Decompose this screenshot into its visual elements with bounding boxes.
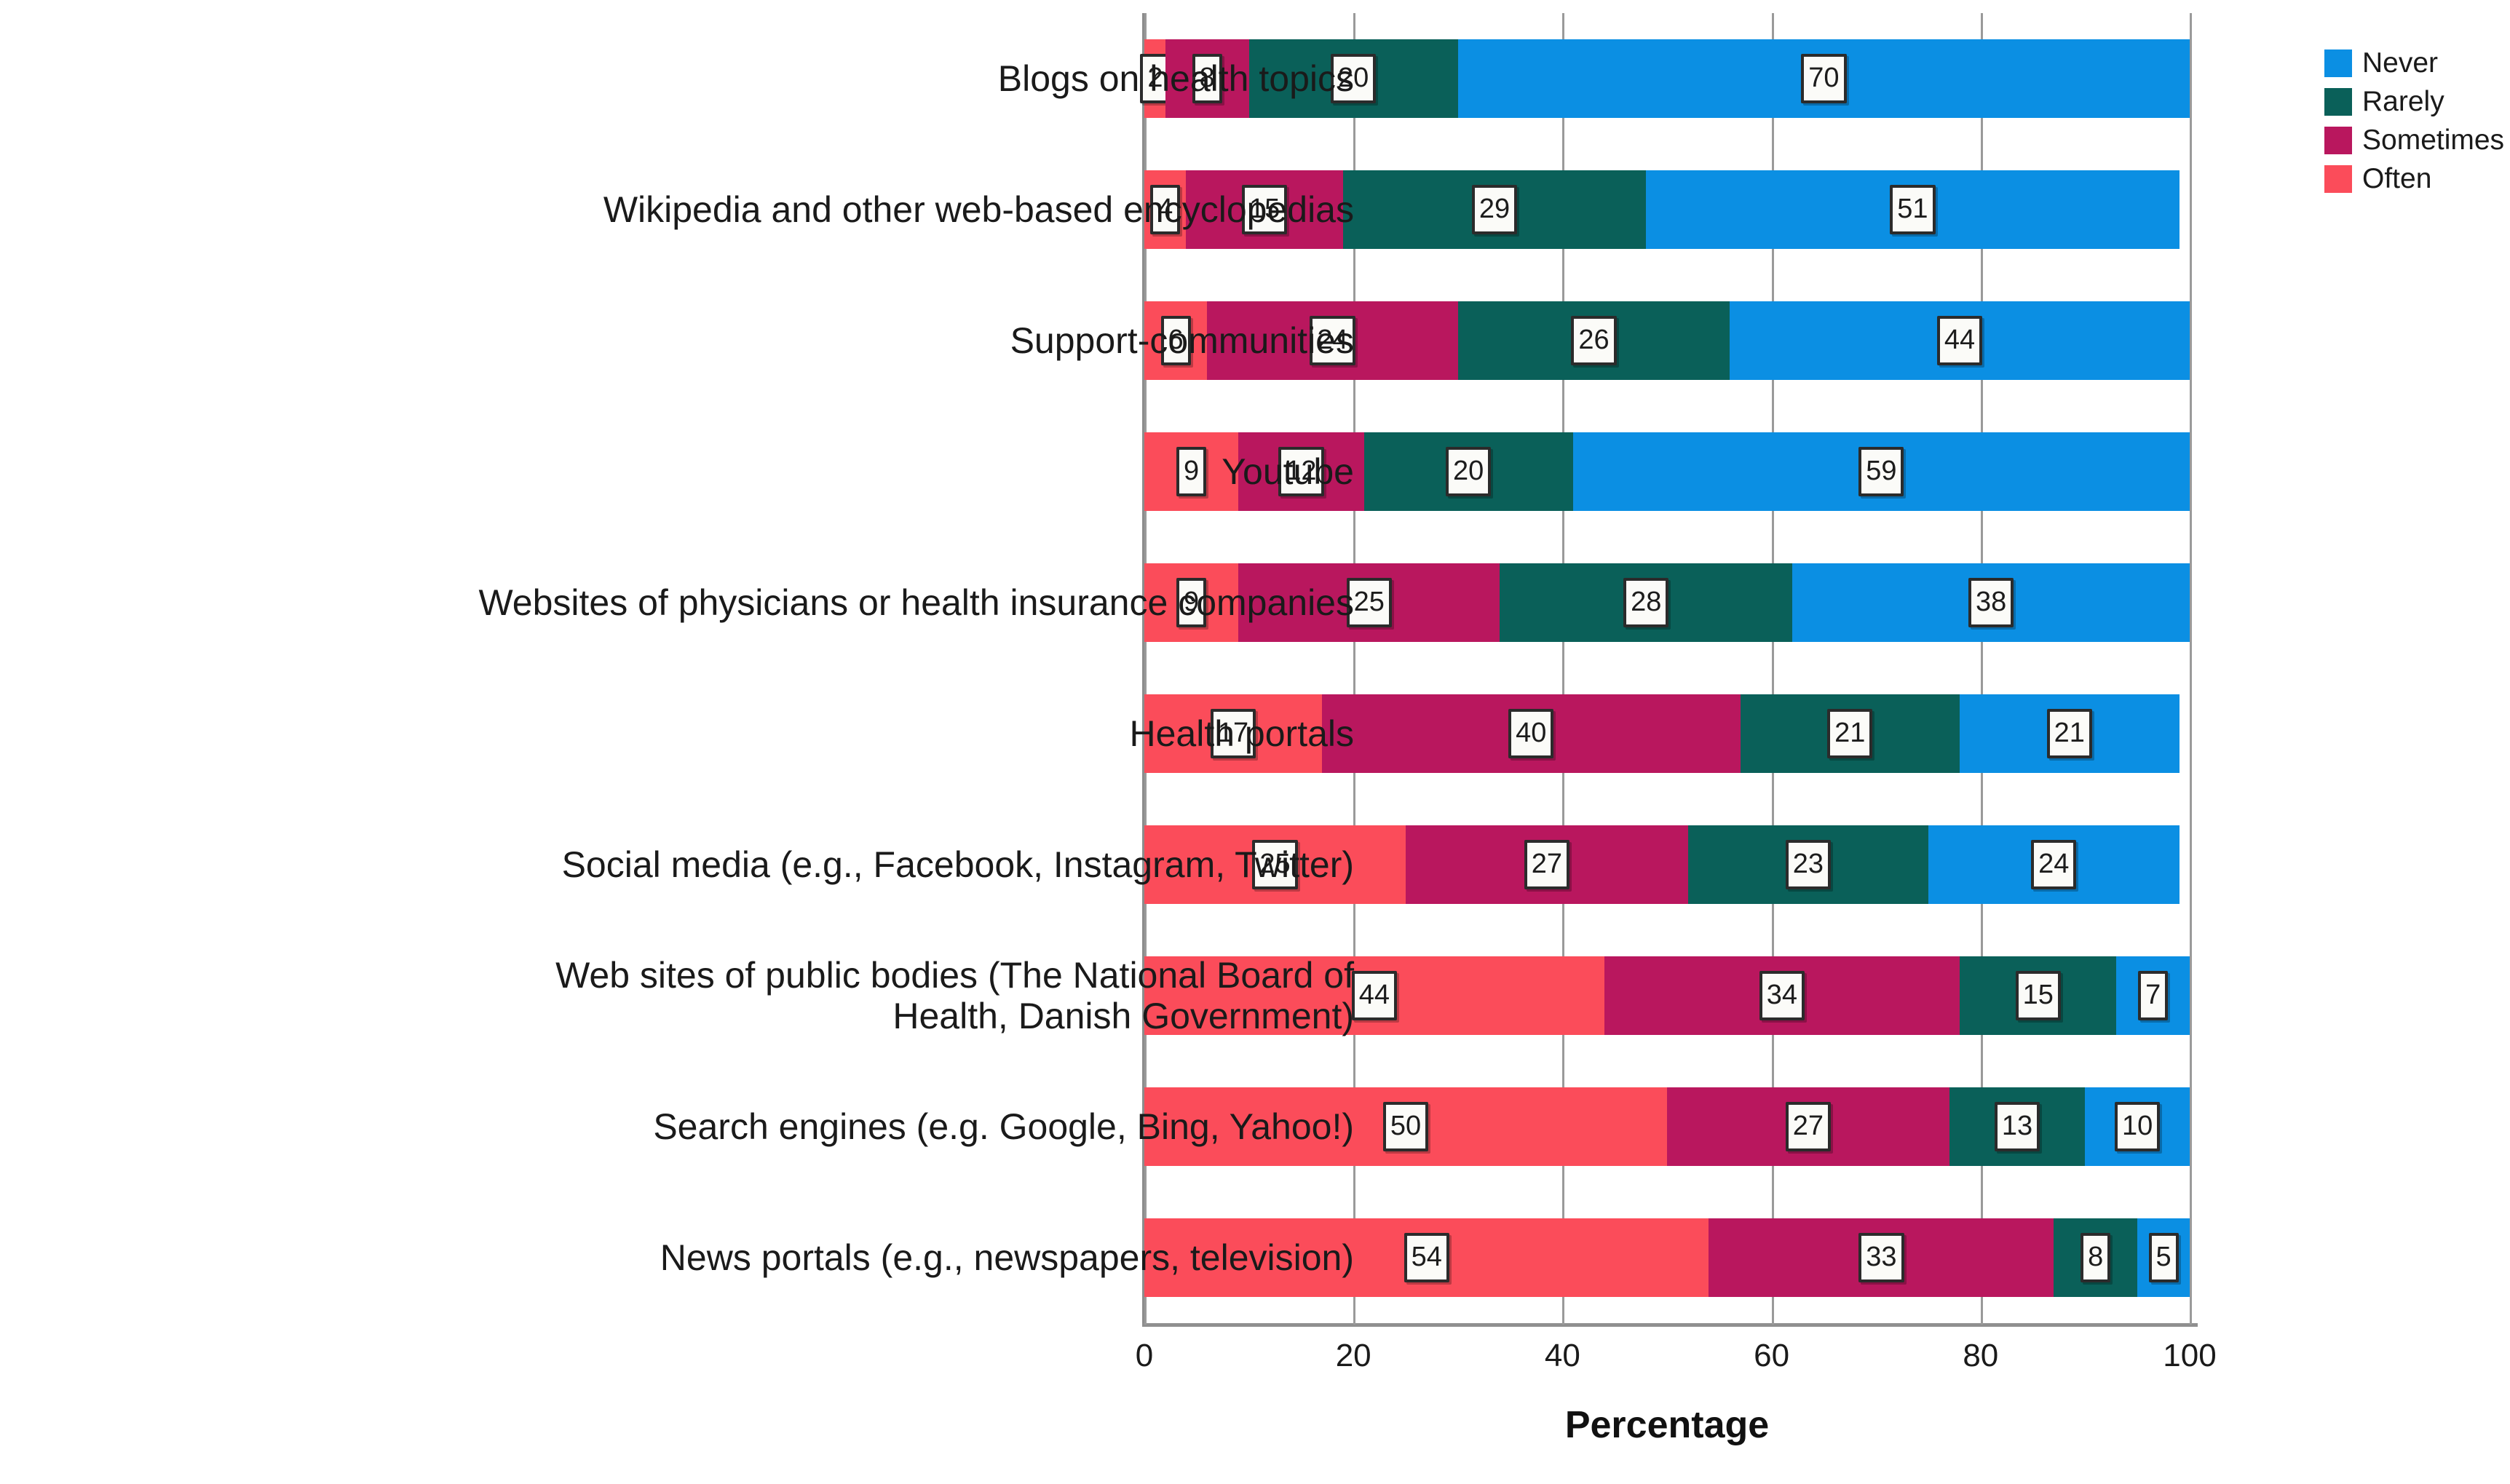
- bar-value-label: 26: [1571, 316, 1616, 365]
- bar-value-label: 27: [1786, 1102, 1831, 1151]
- gridline-100: [2190, 13, 2192, 1325]
- bar-value-label: 34: [1759, 971, 1805, 1020]
- bar-value-label: 24: [2031, 840, 2076, 889]
- x-tick-label: 0: [1101, 1338, 1188, 1374]
- bar-segment-rarely: 15: [1960, 956, 2116, 1035]
- bar-segment-never: 5: [2137, 1218, 2190, 1297]
- category-label: Social media (e.g., Facebook, Instagram,…: [562, 844, 1354, 885]
- bar-value-label: 44: [1937, 316, 1982, 365]
- bar-value-label: 10: [2115, 1102, 2160, 1151]
- category-label: Blogs on health topics: [998, 58, 1354, 99]
- category-label: Websites of physicians or health insuran…: [479, 582, 1355, 623]
- bar-segment-never: 70: [1458, 39, 2190, 118]
- bar-value-label: 51: [1890, 185, 1935, 234]
- x-axis-title: Percentage: [1144, 1403, 2190, 1447]
- category-label: Web sites of public bodies (The National…: [555, 955, 1354, 1036]
- bar-segment-sometimes: 27: [1667, 1087, 1949, 1166]
- x-tick-label: 80: [1937, 1338, 2024, 1374]
- bar-segment-never: 44: [1730, 301, 2190, 380]
- bar-value-label: 13: [1995, 1102, 2040, 1151]
- legend-label: Sometimes: [2362, 126, 2504, 154]
- bar-value-label: 8: [2081, 1233, 2110, 1282]
- bar-segment-sometimes: 33: [1709, 1218, 2054, 1297]
- legend-item: Often: [2324, 159, 2506, 198]
- bar-value-label: 28: [1623, 578, 1668, 627]
- category-label: Wikipedia and other web-based encycloped…: [603, 189, 1354, 230]
- bar-segment-never: 51: [1646, 170, 2179, 249]
- bar-segment-rarely: 23: [1688, 825, 1928, 904]
- legend-swatch-icon: [2324, 49, 2352, 77]
- bar-value-label: 70: [1801, 54, 1846, 103]
- bar-segment-rarely: 13: [1949, 1087, 2086, 1166]
- category-label: News portals (e.g., newspapers, televisi…: [660, 1237, 1354, 1278]
- bar-value-label: 23: [1786, 840, 1831, 889]
- category-label: Youtube: [1222, 451, 1354, 492]
- bar-value-label: 38: [1968, 578, 2014, 627]
- x-tick-label: 60: [1728, 1338, 1816, 1374]
- chart-figure: 2820704152951624264491220599252838174021…: [0, 0, 2510, 1484]
- chart-legend: NeverRarelySometimesOften: [2324, 44, 2506, 198]
- bar-value-label: 33: [1858, 1233, 1904, 1282]
- legend-label: Often: [2362, 164, 2431, 193]
- bar-value-label: 29: [1472, 185, 1517, 234]
- bar-segment-never: 24: [1928, 825, 2180, 904]
- bar-value-label: 54: [1404, 1233, 1449, 1282]
- bar-value-label: 40: [1508, 709, 1553, 758]
- bar-value-label: 5: [2149, 1233, 2179, 1282]
- bar-segment-sometimes: 27: [1406, 825, 1688, 904]
- bar-value-label: 44: [1352, 971, 1397, 1020]
- bar-segment-rarely: 28: [1500, 563, 1792, 642]
- bar-value-label: 9: [1176, 447, 1206, 496]
- category-label: Search engines (e.g. Google, Bing, Yahoo…: [653, 1106, 1354, 1147]
- bar-segment-sometimes: 34: [1604, 956, 1960, 1035]
- bar-value-label: 21: [1827, 709, 1872, 758]
- bar-segment-never: 59: [1573, 432, 2190, 511]
- bar-segment-rarely: 29: [1343, 170, 1646, 249]
- legend-swatch-icon: [2324, 88, 2352, 116]
- legend-swatch-icon: [2324, 165, 2352, 193]
- bar-value-label: 20: [1446, 447, 1491, 496]
- bar-value-label: 50: [1383, 1102, 1428, 1151]
- bar-segment-rarely: 8: [2054, 1218, 2137, 1297]
- bar-segment-rarely: 20: [1364, 432, 1573, 511]
- bar-value-label: 7: [2138, 971, 2168, 1020]
- bar-value-label: 21: [2047, 709, 2092, 758]
- legend-swatch-icon: [2324, 127, 2352, 154]
- bar-value-label: 27: [1524, 840, 1569, 889]
- legend-label: Never: [2362, 49, 2438, 77]
- bar-segment-never: 21: [1960, 694, 2180, 773]
- bar-segment-never: 38: [1792, 563, 2190, 642]
- bar-segment-never: 10: [2085, 1087, 2190, 1166]
- category-label: Health portals: [1130, 713, 1355, 754]
- bar-segment-never: 7: [2116, 956, 2190, 1035]
- x-tick-label: 20: [1310, 1338, 1397, 1374]
- bar-segment-rarely: 21: [1741, 694, 1960, 773]
- legend-item: Sometimes: [2324, 121, 2506, 159]
- category-label: Support-communities: [1010, 320, 1354, 361]
- x-tick-label: 40: [1519, 1338, 1606, 1374]
- legend-item: Never: [2324, 44, 2506, 82]
- legend-label: Rarely: [2362, 87, 2444, 116]
- legend-item: Rarely: [2324, 82, 2506, 121]
- bar-segment-rarely: 26: [1458, 301, 1730, 380]
- bar-value-label: 59: [1858, 447, 1904, 496]
- bar-value-label: 15: [2016, 971, 2061, 1020]
- bar-segment-sometimes: 40: [1322, 694, 1740, 773]
- x-tick-label: 100: [2146, 1338, 2233, 1374]
